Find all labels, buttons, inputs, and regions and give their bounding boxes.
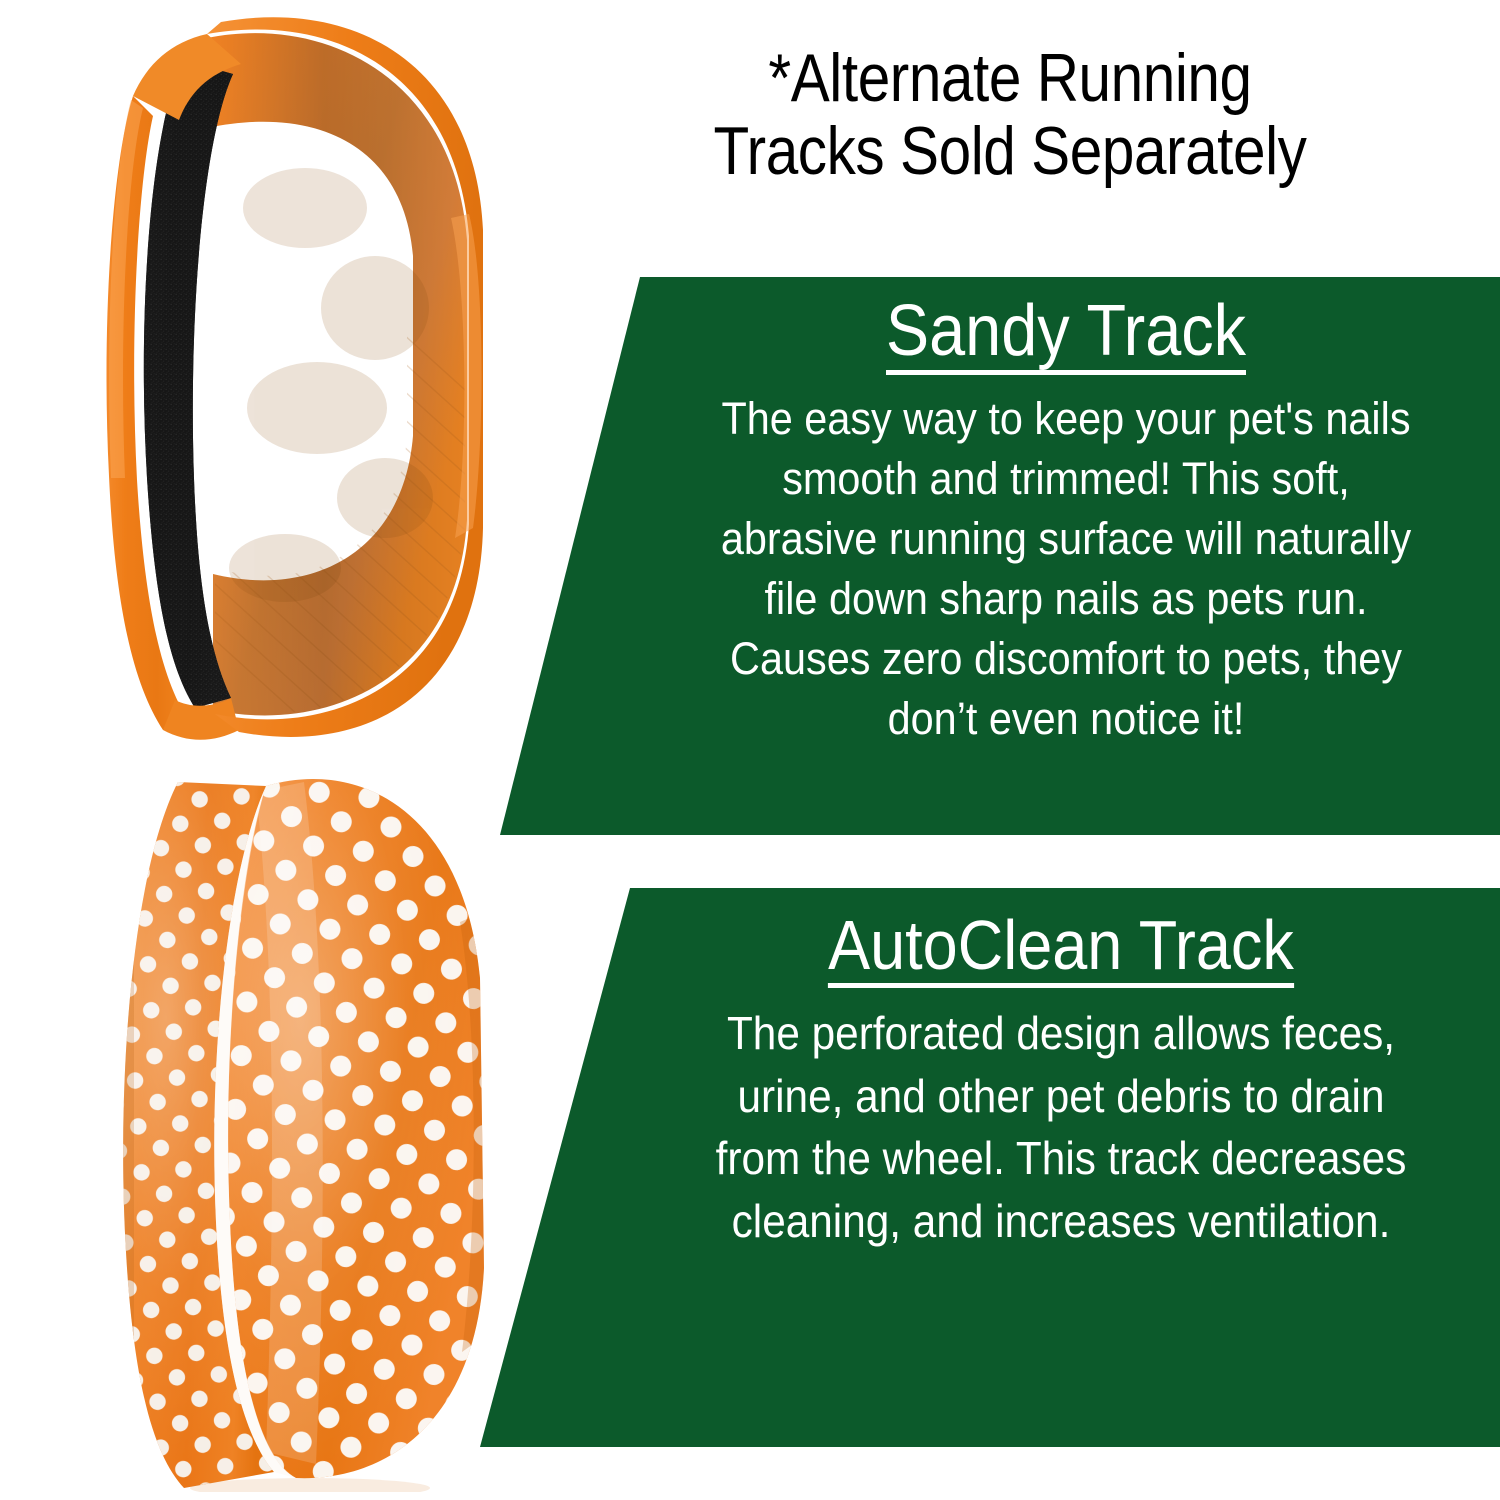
sandy-track-photo [55,8,485,748]
product-infographic: *Alternate Running Tracks Sold Separatel… [0,0,1500,1500]
panel-sandy-track: Sandy Track The easy way to keep your pe… [500,277,1500,835]
page-title: *Alternate Running Tracks Sold Separatel… [623,42,1397,189]
autoclean-track-title: AutoClean Track [718,910,1404,992]
sandy-track-title: Sandy Track [728,295,1405,379]
autoclean-track-title-text: AutoClean Track [828,910,1294,988]
sandy-track-title-text: Sandy Track [886,295,1246,375]
autoclean-track-description: The perforated design allows feces, urin… [710,1002,1411,1252]
sandy-track-description: The easy way to keep your pet's nails sm… [720,389,1412,748]
autoclean-track-photo [60,752,510,1492]
panel-autoclean-track: AutoClean Track The perforated design al… [480,888,1500,1447]
